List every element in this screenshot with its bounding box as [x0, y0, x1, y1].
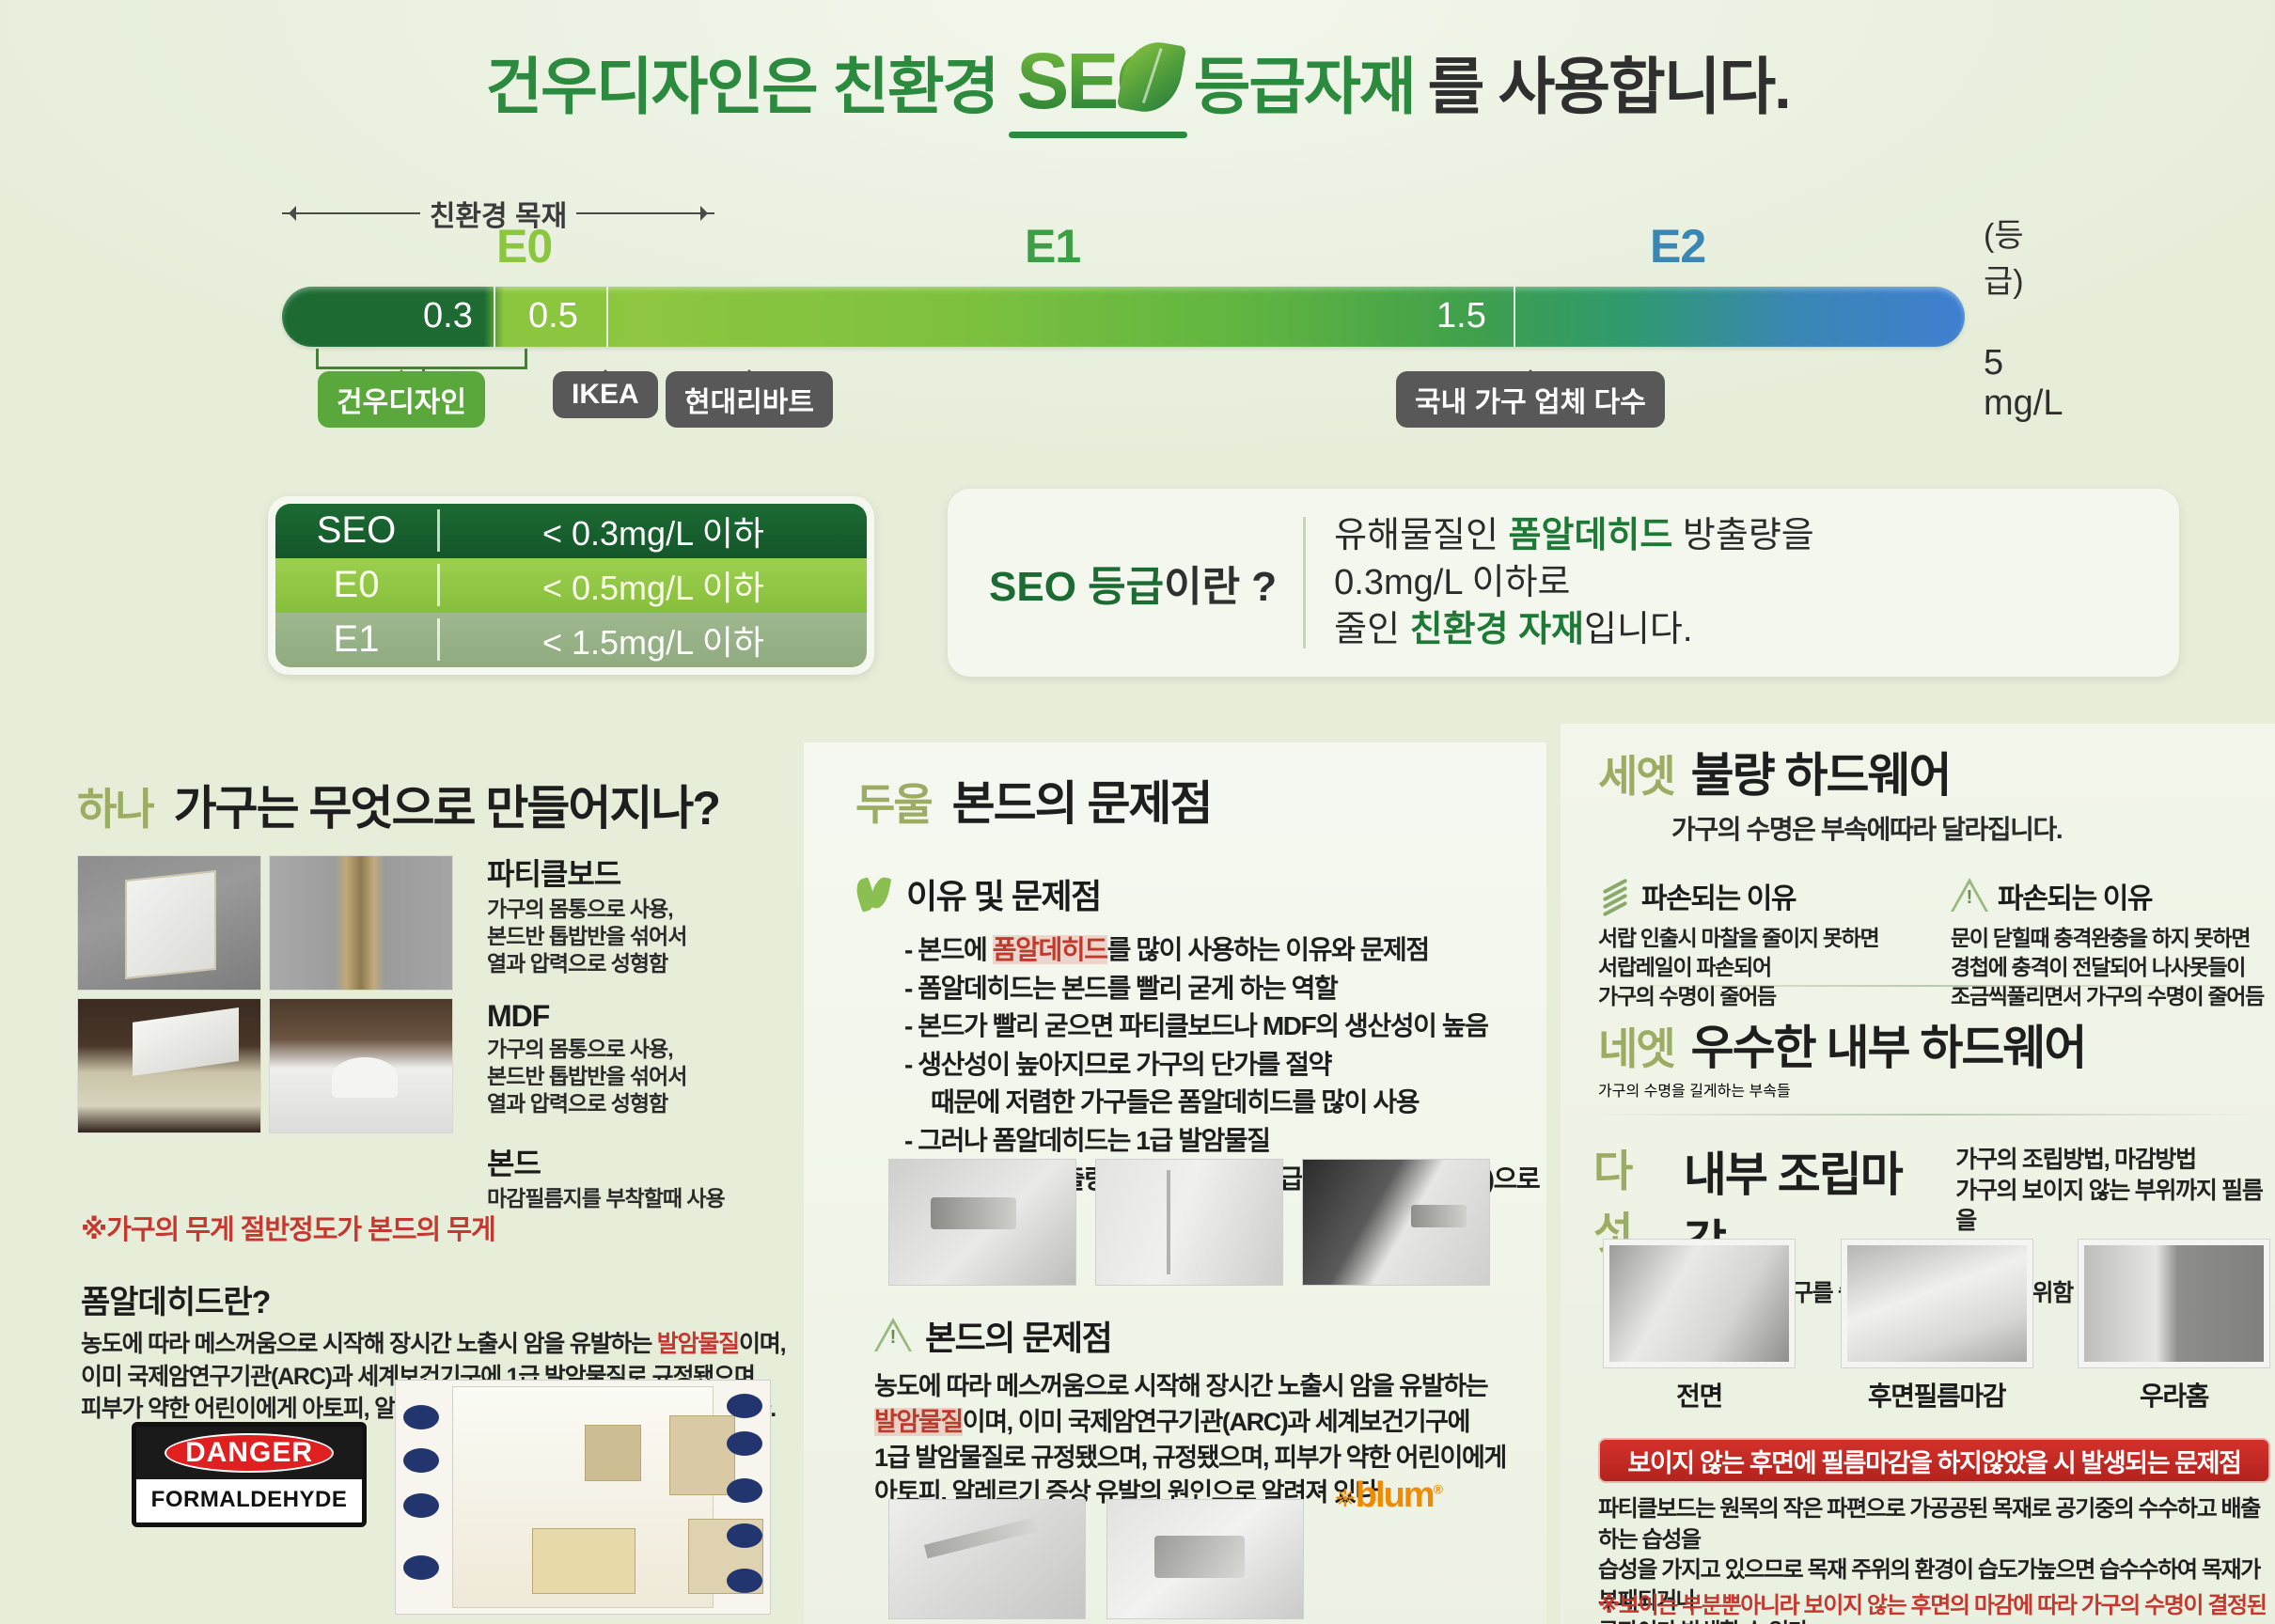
hardware-photos	[888, 1499, 1304, 1619]
list-item: - 본드가 빨리 굳으면 파티클보드나 MDF의 생산성이 높음	[904, 1007, 1551, 1046]
finish-caption-back-film: 후면필름마감	[1841, 1376, 2033, 1413]
section-one-number: 하나	[77, 775, 153, 837]
seo-logo: SEO	[1016, 36, 1174, 127]
scale-unit: (등급) 5 mg/L	[1984, 210, 2063, 424]
pp2: 이며, 이미 국제암연구기관(ARC)과 세계보건기구에	[963, 1408, 1469, 1436]
value-15: 1.5	[1436, 296, 1486, 336]
section-five-note-1: 가구의 조립방법, 마감방법	[1955, 1145, 2275, 1176]
table-row: E0 < 0.5mg/L 이하	[275, 558, 867, 613]
grade-label-e2: E2	[1650, 219, 1705, 273]
tag-geonwoo[interactable]: 건우디자인	[318, 371, 485, 428]
section-two-title: 본드의 문제점	[952, 766, 1212, 834]
value-05: 0.5	[528, 296, 578, 336]
list-item: - 그러나 폼알데히드는 1급 발암물질	[904, 1122, 1551, 1161]
section-three-number: 세엣	[1598, 742, 1674, 804]
grade-key: SEO	[275, 509, 440, 552]
value-03: 0.3	[423, 296, 473, 336]
danger-sign: DANGER FORMALDEHYDE	[132, 1422, 367, 1527]
reason-heading: 이유 및 문제점	[906, 869, 1101, 918]
b0-pre: - 본드에	[904, 935, 993, 964]
warning-banner: 보이지 않는 후면에 필름마감을 하지않았을 시 발생되는 문제점	[1598, 1438, 2270, 1483]
section-five-note-2: 가구의 보이지 않는 부위까지 필름을	[1955, 1176, 2275, 1237]
seo-definition-question: SEO 등급이란 ?	[989, 553, 1303, 613]
photo-particleboard-cabinet	[77, 855, 261, 991]
def-l3a: 줄인	[1334, 610, 1409, 649]
damage-body-1: 서랍 인출시 마찰을 줄이지 못하면 서랍레일이 파손되어 가구의 수명이 줄어…	[1598, 924, 1922, 1010]
title-prefix: 건우디자인은 친환경	[485, 37, 997, 127]
photo-cabinet-door	[1095, 1159, 1283, 1286]
table-row: SEO < 0.3mg/L 이하	[275, 504, 867, 558]
material-desc-bond: 마감필름지를 부착할때 사용	[487, 1185, 788, 1212]
material-photos	[77, 855, 453, 1133]
section-three-subtitle: 가구의 수명은 부속에따라 달라집니다.	[1671, 809, 2275, 847]
warning-icon: !	[1951, 878, 1988, 913]
table-row: E1 < 1.5mg/L 이하	[275, 613, 867, 667]
formaldehyde-label: FORMALDEHYDE	[151, 1487, 348, 1513]
spring-icon	[1598, 879, 1632, 913]
unit-grade-label: (등급)	[1984, 210, 2063, 302]
grade-key: E0	[275, 564, 440, 606]
pp3: 1급 발암물질로 규정됐으며, 규정됐으며, 피부가 약한 어린이에게	[874, 1444, 1506, 1472]
tick-15	[1514, 287, 1515, 347]
tag-ikea[interactable]: IKEA	[553, 371, 658, 418]
section-five-red-note: ※보이는 부분뿐아니라 보이지 않는 후면의 마감에 따라 가구의 수명이 결정…	[1598, 1586, 2275, 1624]
divider	[1598, 1114, 2256, 1116]
material-desc-mdf: 가구의 몸통으로 사용, 본드반 톱밥반을 섞어서 열과 압력으로 성형함	[487, 1036, 788, 1116]
damage-reason-hinge: ! 파손되는 이유 문이 닫힐때 충격완충을 하지 못하면 경첩에 충격이 전달…	[1951, 875, 2275, 1010]
def-l1a: 유해물질인	[1334, 516, 1508, 555]
list-item: - 본드에 폼알데히드를 많이 사용하는 이유와 문제점	[904, 931, 1551, 970]
arrow-left-icon	[282, 212, 420, 214]
photo-mdf-sheet	[77, 998, 261, 1133]
fh-b1: 농도에 따라 메스꺼움으로 시작해 장시간 노출시 암을 유발하는	[81, 1331, 657, 1357]
finish-caption-urahom: 우라홈	[2078, 1376, 2270, 1413]
grade-table: SEO < 0.3mg/L 이하 E0 < 0.5mg/L 이하 E1 < 1.…	[268, 496, 874, 675]
b0-post: 를 많이 사용하는 이유와 문제점	[1107, 935, 1429, 964]
section-three: 세엣 불량 하드웨어 가구의 수명은 부속에따라 달라집니다. 파손되는 이유 …	[1598, 738, 2275, 1010]
grade-key: E1	[275, 618, 440, 661]
tick-05	[606, 287, 608, 347]
photo-hinge-closeup	[1302, 1159, 1490, 1286]
bond-weight-note: ※가구의 무게 절반정도가 본드의 무게	[81, 1208, 495, 1247]
section-four-number: 네엣	[1598, 1015, 1674, 1077]
material-name-bond: 본드	[487, 1140, 788, 1183]
geonwoo-bracket	[316, 349, 527, 369]
formaldehyde-title: 폼알데히드란?	[81, 1276, 795, 1322]
tag-domestic-makers[interactable]: 국내 가구 업체 다수	[1396, 371, 1665, 428]
tag-hyundai-livart[interactable]: 현대리바트	[666, 371, 833, 428]
def-l3c: 입니다.	[1584, 610, 1692, 649]
seo-definition-box: SEO 등급이란 ? 유해물질인 폼알데히드 방출량을 0.3mg/L 이하로 …	[948, 489, 2179, 677]
finish-item-back-film: 후면필름마감	[1841, 1239, 2033, 1413]
blum-text: blum	[1356, 1476, 1434, 1515]
logo-underline	[1009, 132, 1187, 138]
photo-lift-system	[888, 1499, 1086, 1619]
section-four: 네엣 우수한 내부 하드웨어 가구의 수명을 길게하는 부속들	[1598, 1010, 2275, 1101]
seo-definition-body: 유해물질인 폼알데히드 방출량을 0.3mg/L 이하로 줄인 친환경 자재입니…	[1306, 512, 1814, 653]
grade-label-e0: E0	[496, 219, 552, 273]
damage-reason-rail: 파손되는 이유 서랍 인출시 마찰을 줄이지 못하면 서랍레일이 파손되어 가구…	[1598, 875, 1922, 1010]
material-name-particleboard: 파티클보드	[487, 851, 788, 894]
bond-problem-body: 농도에 따라 메스꺼움으로 시작해 장시간 노출시 암을 유발하는 발암물질이며…	[874, 1369, 1551, 1511]
seo-question-bold: SEO 등급	[989, 564, 1164, 610]
title-suffix-green: 등급자재	[1194, 37, 1415, 127]
section-four-title: 우수한 내부 하드웨어	[1691, 1010, 2086, 1078]
grade-value: < 0.3mg/L 이하	[440, 507, 867, 555]
grade-label-e1: E1	[1025, 219, 1080, 273]
finish-photos: 전면 후면필름마감 우라홈	[1603, 1239, 2270, 1413]
title-suffix-rest: 를 사용합니다.	[1428, 37, 1790, 127]
infographic-page: 건우디자인은 친환경 SEO 등급자재 를 사용합니다. 친환경 목재 E0 E…	[0, 0, 2275, 1624]
bond-problem-heading: 본드의 문제점	[925, 1311, 1111, 1360]
formaldehyde-scale: 친환경 목재 E0 E1 E2 0.3 0.5 1.5 (등급) 5 mg/L …	[282, 193, 1993, 352]
section-three-title: 불량 하드웨어	[1691, 738, 1951, 805]
blum-logo: blum®	[1335, 1476, 1441, 1516]
section-two-number: 두울	[855, 771, 932, 833]
bond-problem-block: ! 본드의 문제점 농도에 따라 메스꺼움으로 시작해 장시간 노출시 암을 유…	[874, 1311, 1551, 1511]
list-item: 때문에 저렴한 가구들은 폼알데히드를 많이 사용	[904, 1084, 1551, 1122]
material-desc-particleboard: 가구의 몸통으로 사용, 본드반 톱밥반을 섞어서 열과 압력으로 성형함	[487, 896, 788, 976]
fh-b2: 이며,	[739, 1331, 785, 1357]
unit-max-value: 5 mg/L	[1984, 343, 2063, 424]
finish-item-urahom: 우라홈	[2078, 1239, 2270, 1413]
seo-question-rest: 이란 ?	[1164, 564, 1277, 610]
indoor-pollution-diagram	[395, 1380, 771, 1615]
section-four-subtitle: 가구의 수명을 길게하는 부속들	[1598, 1078, 2275, 1101]
def-l2: 0.3mg/L 이하로	[1334, 559, 1814, 606]
damage-heading-2: 파손되는 이유	[1998, 875, 2152, 916]
photo-particleboard-edge	[269, 855, 453, 991]
grade-value: < 1.5mg/L 이하	[440, 616, 867, 664]
tick-03	[494, 287, 495, 347]
danger-label: DANGER	[185, 1437, 313, 1468]
section-one-title: 가구는 무엇으로 만들어지나?	[174, 771, 719, 838]
material-list: 파티클보드 가구의 몸통으로 사용, 본드반 톱밥반을 섞어서 열과 압력으로 …	[487, 851, 788, 1211]
damage-body-2: 문이 닫힐때 충격완충을 하지 못하면 경첩에 충격이 전달되어 나사못들이 조…	[1951, 924, 2275, 1010]
scale-bar: 0.3 0.5 1.5	[282, 287, 1965, 347]
sf-l1: 파티클보드는 원목의 작은 파편으로 가공공된 목재로 공기중의 수수하고 배출…	[1598, 1494, 2275, 1555]
warning-banner-text: 보이지 않는 후면에 필름마감을 하지않았을 시 발생되는 문제점	[1627, 1443, 2240, 1479]
photo-drawer-runner	[1106, 1499, 1304, 1619]
pp1: 농도에 따라 메스꺼움으로 시작해 장시간 노출시 암을 유발하는	[874, 1372, 1487, 1400]
fh-highlight: 발암물질	[657, 1331, 739, 1357]
reason-heading-row: 이유 및 문제점	[855, 869, 1551, 918]
page-title: 건우디자인은 친환경 SEO 등급자재 를 사용합니다.	[0, 36, 2275, 127]
pp2-hl: 발암물질	[874, 1408, 963, 1436]
divider	[1598, 985, 2256, 987]
def-l1b: 폼알데히드	[1509, 516, 1673, 555]
arrow-right-icon	[576, 212, 714, 214]
warning-icon: !	[874, 1318, 912, 1353]
leaf-icon	[855, 875, 893, 913]
damage-heading-1: 파손되는 이유	[1641, 875, 1796, 916]
def-l1c: 방출량을	[1672, 516, 1813, 555]
grade-labels: E0 E1 E2	[282, 219, 1965, 275]
list-item: - 생산성이 높아지므로 가구의 단가를 절약	[904, 1046, 1551, 1085]
def-l3b: 친환경 자재	[1410, 610, 1584, 649]
photo-hinge-damaged	[888, 1159, 1076, 1286]
b0-hl: 폼알데히드	[993, 935, 1107, 964]
photo-bond-film	[269, 998, 453, 1133]
finish-item-front: 전면	[1603, 1239, 1796, 1413]
section-one-header: 하나 가구는 무엇으로 만들어지나?	[77, 771, 773, 838]
material-name-mdf: MDF	[487, 999, 788, 1034]
finish-caption-front: 전면	[1603, 1376, 1796, 1413]
brand-tags: 건우디자인 IKEA 현대리바트 국내 가구 업체 다수	[282, 371, 1965, 428]
grade-value: < 0.5mg/L 이하	[440, 561, 867, 610]
hinge-photos	[888, 1159, 1490, 1286]
list-item: - 폼알데히드는 본드를 빨리 굳게 하는 역할	[904, 970, 1551, 1008]
